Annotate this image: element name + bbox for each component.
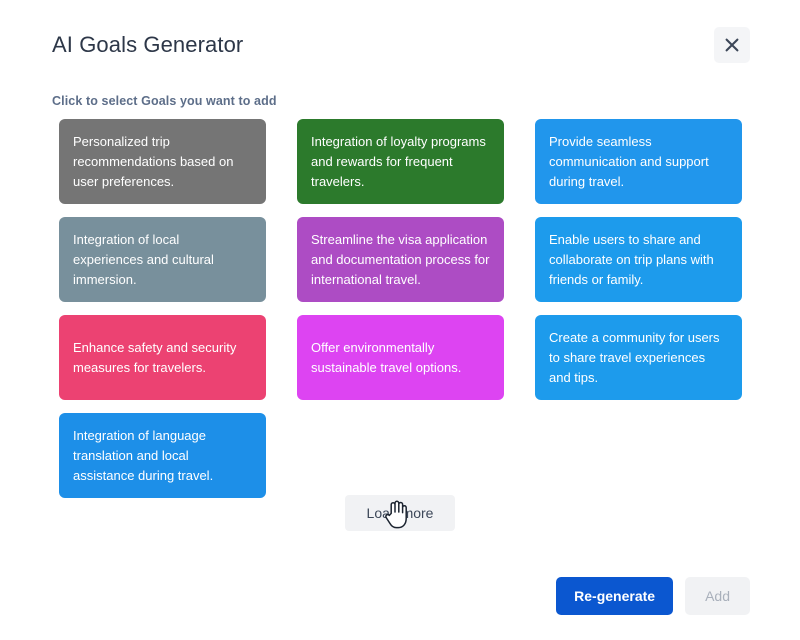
goal-card[interactable]: Integration of language translation and … [59,413,266,498]
re-generate-button[interactable]: Re-generate [556,577,673,615]
load-more-row: Load more [0,495,800,531]
load-more-button[interactable]: Load more [345,495,456,531]
dialog-footer-actions: Re-generate Add [556,577,750,615]
ai-goals-generator-dialog: AI Goals Generator Click to select Goals… [0,0,800,640]
goal-card[interactable]: Integration of loyalty programs and rewa… [297,119,504,204]
page-title: AI Goals Generator [52,22,800,60]
goals-grid: Personalized trip recommendations based … [59,119,749,498]
goal-card[interactable]: Integration of local experiences and cul… [59,217,266,302]
dialog-header: AI Goals Generator [52,22,800,70]
close-button[interactable] [714,27,750,63]
selection-hint: Click to select Goals you want to add [52,94,277,108]
goal-card[interactable]: Streamline the visa application and docu… [297,217,504,302]
goal-card[interactable]: Provide seamless communication and suppo… [535,119,742,204]
add-button: Add [685,577,750,615]
goal-card[interactable]: Enable users to share and collaborate on… [535,217,742,302]
goal-card[interactable]: Create a community for users to share tr… [535,315,742,400]
goal-card[interactable]: Enhance safety and security measures for… [59,315,266,400]
goal-card[interactable]: Offer environmentally sustainable travel… [297,315,504,400]
goal-card[interactable]: Personalized trip recommendations based … [59,119,266,204]
close-icon [724,37,740,53]
